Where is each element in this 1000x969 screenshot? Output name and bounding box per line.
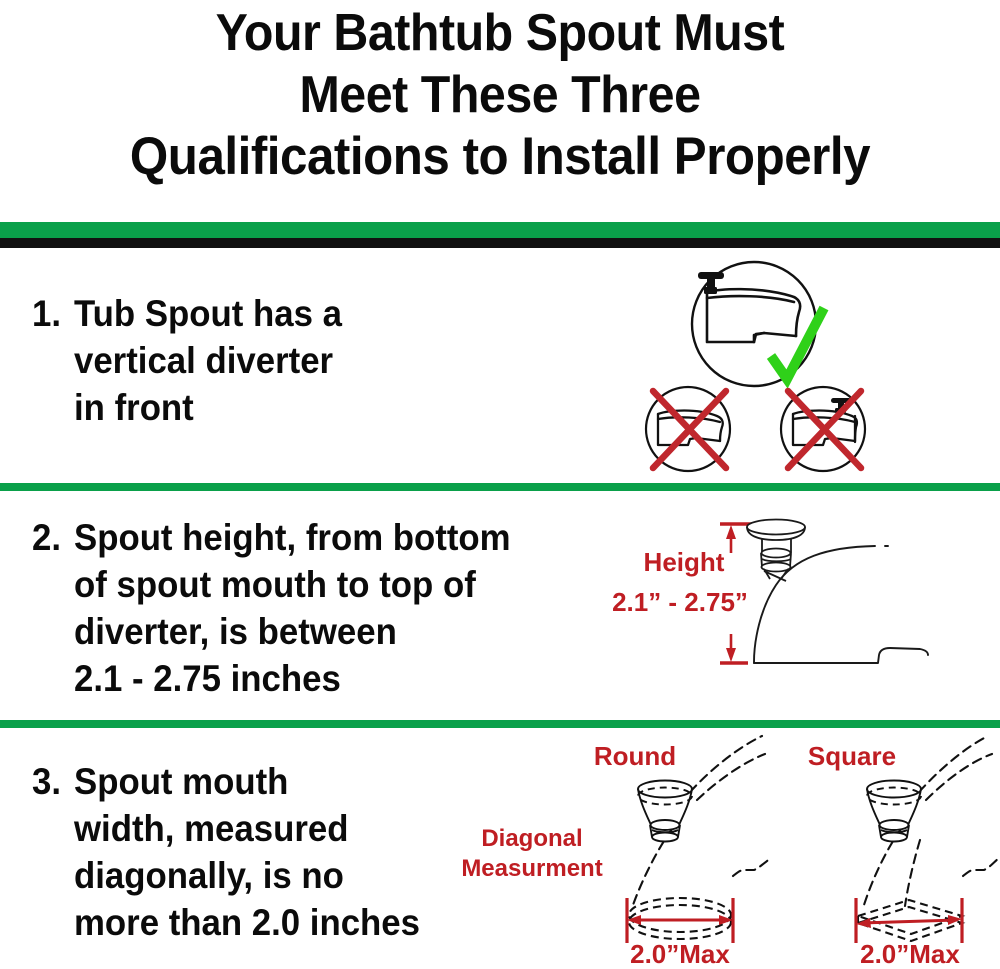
round-max-label: 2.0”Max [630, 939, 730, 967]
spout-height-diagram: Height 2.1” - 2.75” [588, 491, 1000, 711]
bad-spout-option-no-diverter [646, 387, 730, 471]
title-line-1: Your Bathtub Spout Must [35, 2, 965, 64]
section-2-line-3: diverter, is between [74, 608, 511, 655]
diagonal-label-line-2: Measurment [461, 855, 602, 882]
section-1-line-3: in front [74, 384, 342, 431]
diverter-knob-icon [747, 520, 805, 582]
section-1-line-1: Tub Spout has a [74, 290, 342, 337]
section-3-number: 3. [32, 758, 61, 805]
height-label: Height [644, 547, 725, 577]
divider-green-top [0, 222, 1000, 238]
good-spout-option [692, 262, 824, 386]
section-2-line-1: Spout height, from bottom [74, 514, 511, 561]
square-spout-mouth-illustration: Square [808, 736, 999, 967]
section-2-body: Spout height, from bottom of spout mouth… [74, 514, 511, 702]
round-mouth-cup-icon [638, 781, 692, 842]
section-3-line-3: diagonally, is no [74, 852, 420, 899]
round-spout-mouth-illustration: Round [594, 736, 771, 967]
section-1-body: Tub Spout has a vertical diverter in fro… [74, 290, 342, 431]
infographic-root: Your Bathtub Spout Must Meet These Three… [0, 0, 1000, 969]
height-range-label: 2.1” - 2.75” [612, 587, 748, 617]
round-label: Round [594, 741, 676, 771]
qualification-section-3: 3. Spout mouth width, measured diagonall… [0, 728, 1000, 969]
page-title: Your Bathtub Spout Must Meet These Three… [0, 2, 1000, 188]
section-1-line-2: vertical diverter [74, 337, 342, 384]
section-2-line-2: of spout mouth to top of [74, 561, 511, 608]
section-2-line-4: 2.1 - 2.75 inches [74, 655, 511, 702]
square-mouth-cup-icon [867, 781, 921, 842]
qualification-section-1: 1. Tub Spout has a vertical diverter in … [0, 250, 1000, 483]
section-3-body: Spout mouth width, measured diagonally, … [74, 758, 420, 946]
divider-green-lower [0, 720, 1000, 728]
diagonal-label-line-1: Diagonal [481, 825, 582, 852]
diverter-position-diagram [636, 246, 996, 486]
section-1-number: 1. [32, 290, 61, 337]
section-3-line-1: Spout mouth [74, 758, 420, 805]
section-3-line-2: width, measured [74, 805, 420, 852]
section-3-line-4: more than 2.0 inches [74, 899, 420, 946]
square-label: Square [808, 741, 896, 771]
title-line-2: Meet These Three [35, 64, 965, 126]
square-max-label: 2.0”Max [860, 939, 960, 967]
section-2-number: 2. [32, 514, 61, 561]
section-1-text: 1. Tub Spout has a vertical diverter in … [32, 290, 359, 431]
square-diagonal-dimension [856, 898, 962, 943]
title-line-3: Qualifications to Install Properly [35, 126, 965, 188]
spout-mouth-width-diagram: Diagonal Measurment Round [452, 730, 1000, 967]
section-3-text: 3. Spout mouth width, measured diagonall… [32, 758, 442, 946]
bad-spout-option-top-diverter [781, 387, 865, 471]
qualification-section-2: 2. Spout height, from bottom of spout mo… [0, 491, 1000, 720]
section-2-text: 2. Spout height, from bottom of spout mo… [32, 514, 538, 702]
